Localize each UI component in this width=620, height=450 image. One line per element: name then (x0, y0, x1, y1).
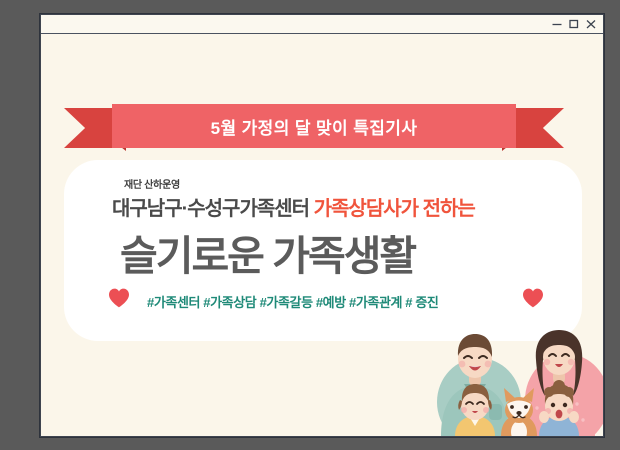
ribbon-text: 5월 가정의 달 맞이 특집기사 (211, 114, 418, 139)
card-hashtags: #가족센터 #가족상담 #가족갈등 #예방 #가족관계 # 증진 (147, 292, 438, 311)
application-window: 5월 가정의 달 맞이 특집기사 재단 산하운영 대구남구·수성구가족센터 가족… (40, 14, 604, 437)
heart-icon-right (522, 288, 544, 308)
card-subtitle: 대구남구·수성구가족센터 가족상담사가 전하는 (112, 192, 475, 221)
card-subtitle-accent: 가족상담사가 전하는 (314, 198, 475, 220)
family-illustration (431, 316, 603, 436)
heart-icon-left (108, 288, 130, 308)
poster-canvas: 5월 가정의 달 맞이 특집기사 재단 산하운영 대구남구·수성구가족센터 가족… (41, 34, 603, 436)
ribbon-banner: 5월 가정의 달 맞이 특집기사 (64, 104, 564, 152)
minimize-icon[interactable] (550, 18, 563, 31)
headline-card: 재단 산하운영 대구남구·수성구가족센터 가족상담사가 전하는 슬기로운 가족생… (64, 160, 582, 341)
card-eyebrow: 재단 산하운영 (124, 176, 180, 191)
close-icon[interactable] (584, 18, 597, 31)
card-main-title: 슬기로운 가족생활 (120, 222, 415, 282)
window-title-bar (41, 15, 603, 34)
ribbon-body: 5월 가정의 달 맞이 특집기사 (112, 104, 516, 148)
maximize-icon[interactable] (567, 18, 580, 31)
card-subtitle-organization: 대구남구·수성구가족센터 (112, 198, 314, 220)
